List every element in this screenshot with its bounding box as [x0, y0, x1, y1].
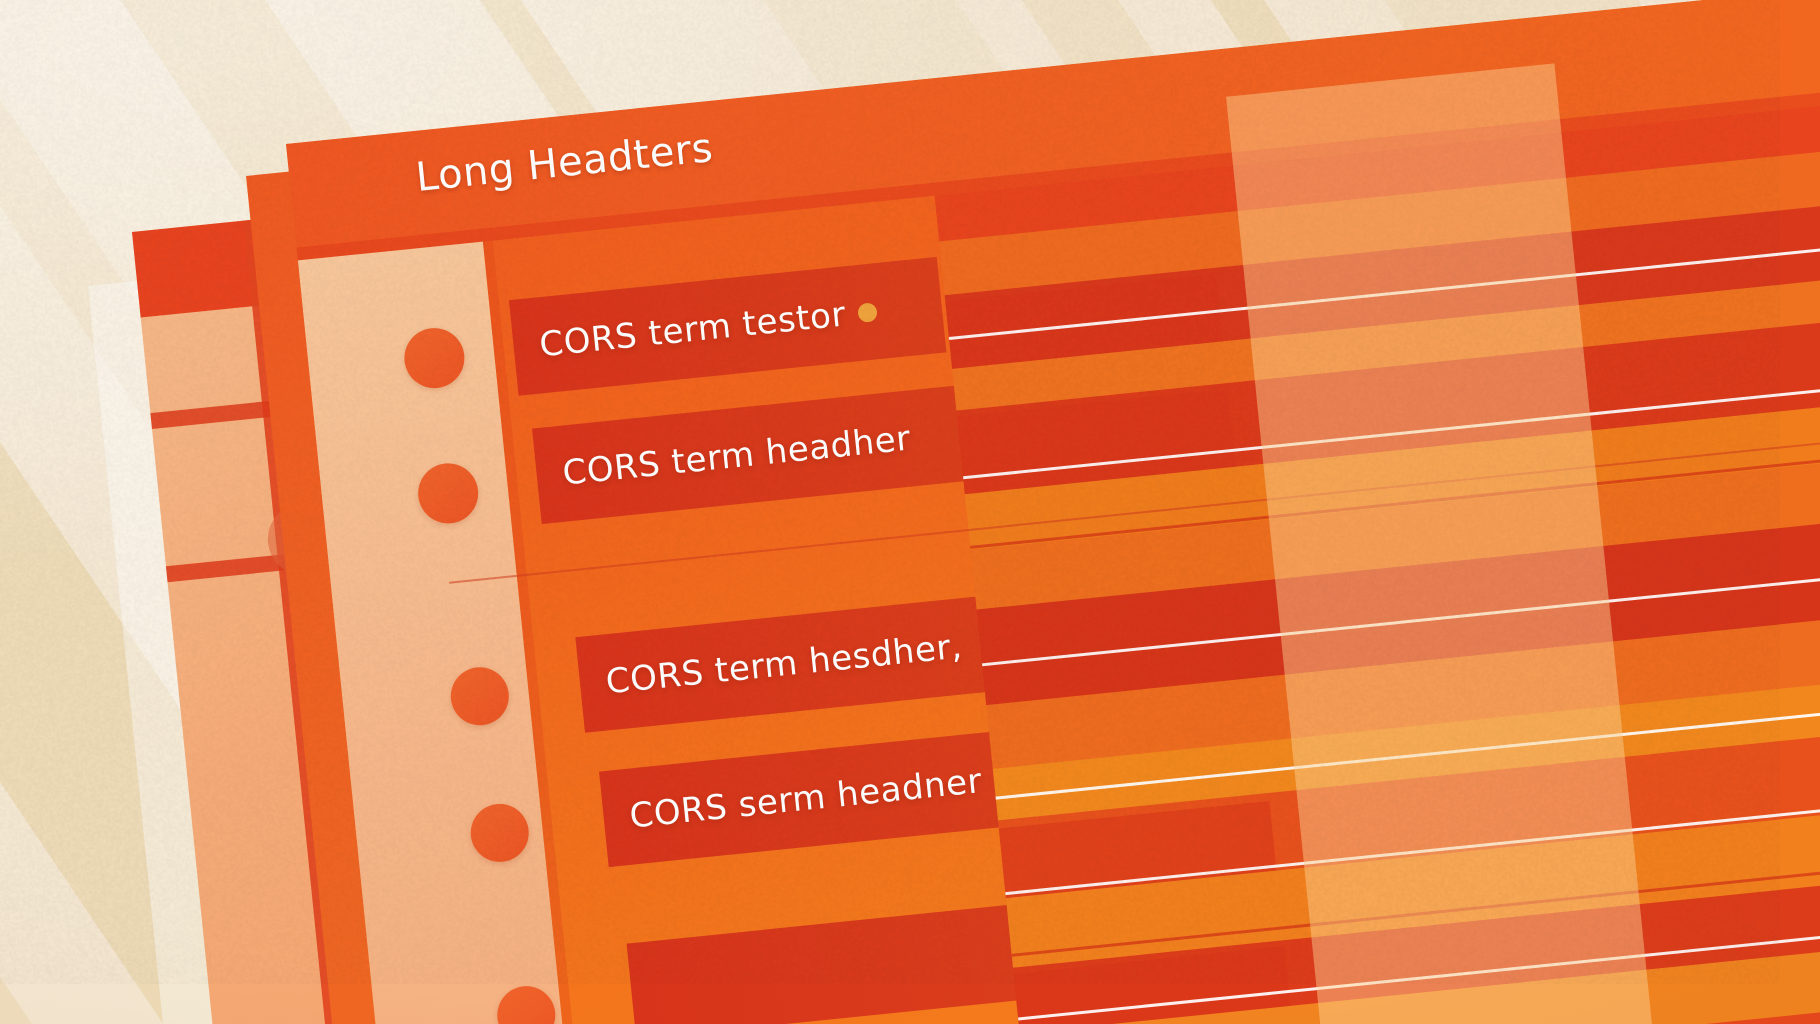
canvas: Long Headters CORS term testor CORS term… [0, 0, 1820, 1024]
row-label: CORS term headher [535, 418, 913, 496]
data-panel [935, 93, 1820, 1024]
table-row[interactable]: CORS term headher [532, 385, 970, 524]
row-status-dot [857, 302, 878, 323]
table-row[interactable]: CORS term testor [509, 257, 947, 396]
main-card: Long Headters CORS term testor CORS term… [286, 0, 1820, 1024]
row-label: CORS serm headner [602, 761, 984, 839]
table-row[interactable]: CORS term hesdher, [575, 594, 1013, 733]
row-label: CORS term hesdher, [578, 626, 964, 705]
row-label: CORS term testor [512, 294, 848, 368]
table-row[interactable]: CORS serm headner [599, 728, 1037, 867]
table-row[interactable] [627, 900, 1065, 1024]
